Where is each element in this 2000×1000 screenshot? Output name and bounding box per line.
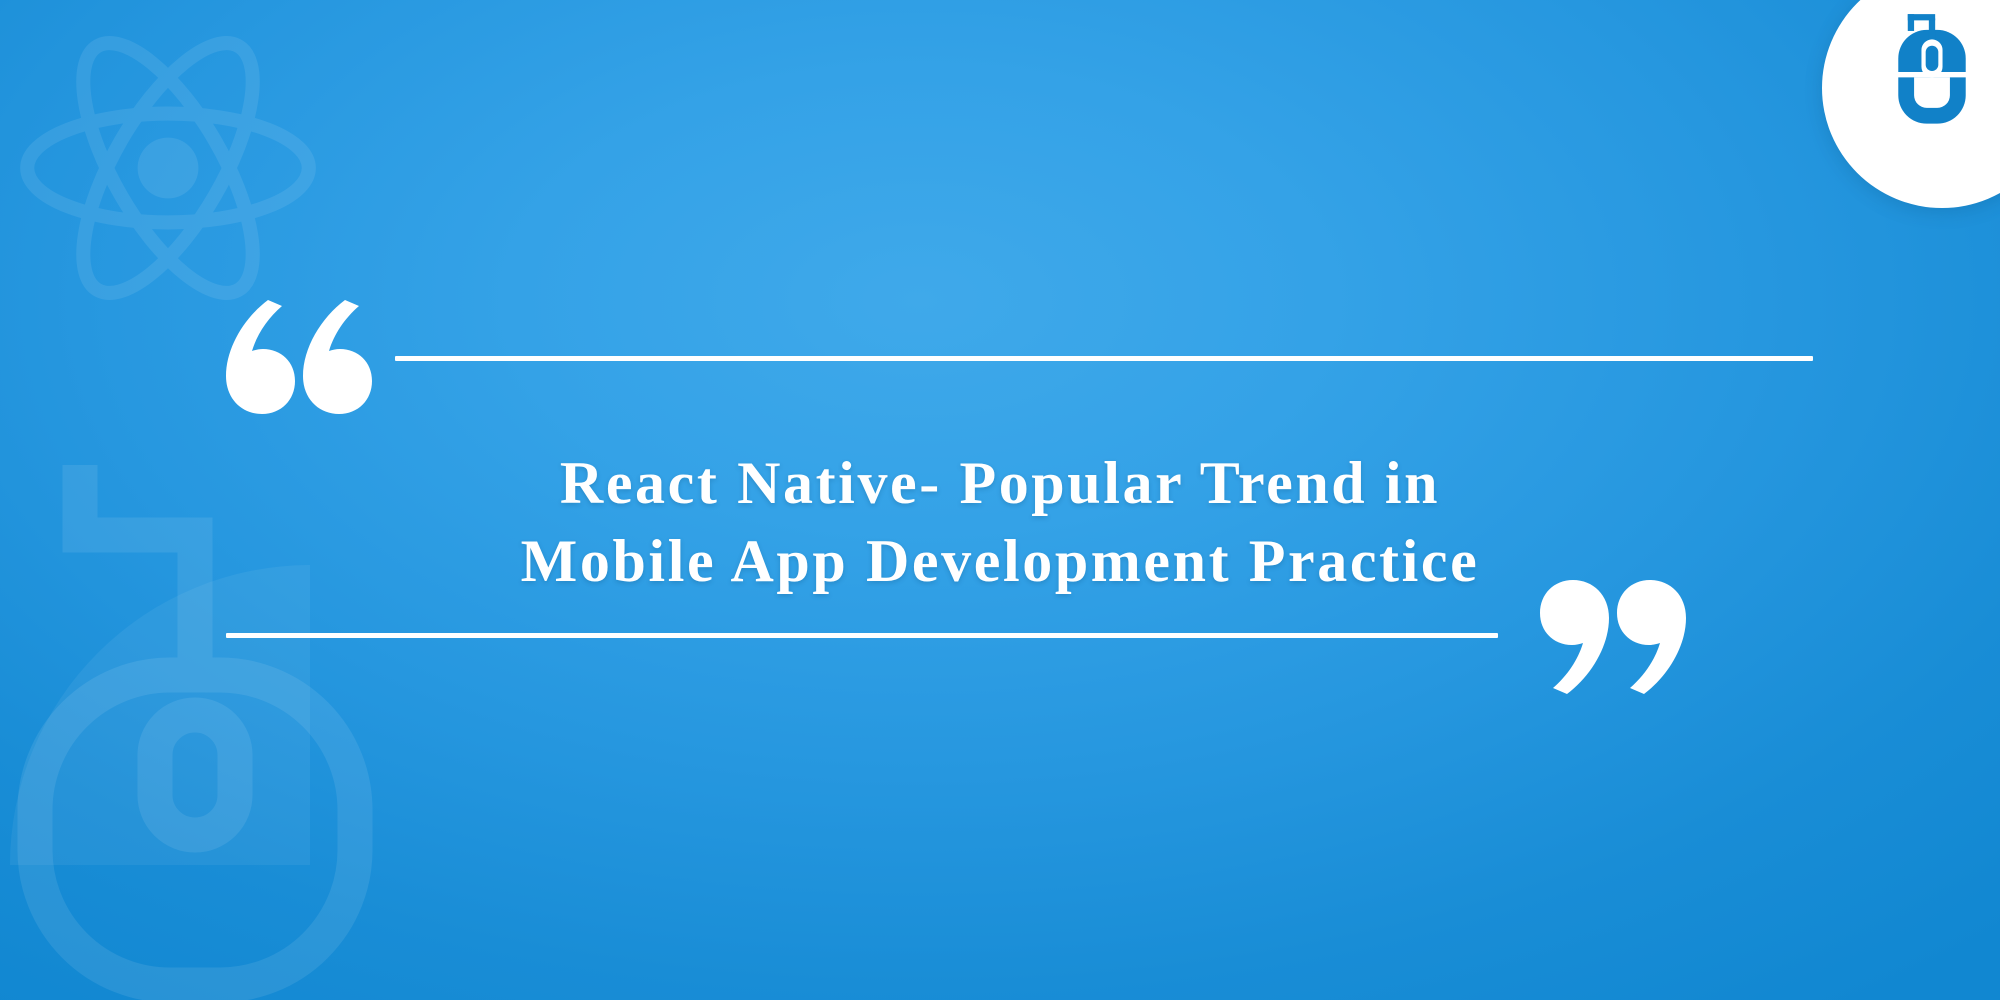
banner-canvas: React Native- Popular Trend in Mobile Ap… [0,0,2000,1000]
react-atom-icon [8,8,328,328]
site-logo-badge[interactable] [1822,0,2000,208]
divider-line-bottom [226,633,1498,638]
divider-line-top [395,356,1813,361]
banner-title: React Native- Popular Trend in Mobile Ap… [0,444,2000,600]
computer-mouse-icon [1880,12,1984,130]
open-quote-mark [222,296,372,416]
quarter-circle-shape [0,565,320,865]
